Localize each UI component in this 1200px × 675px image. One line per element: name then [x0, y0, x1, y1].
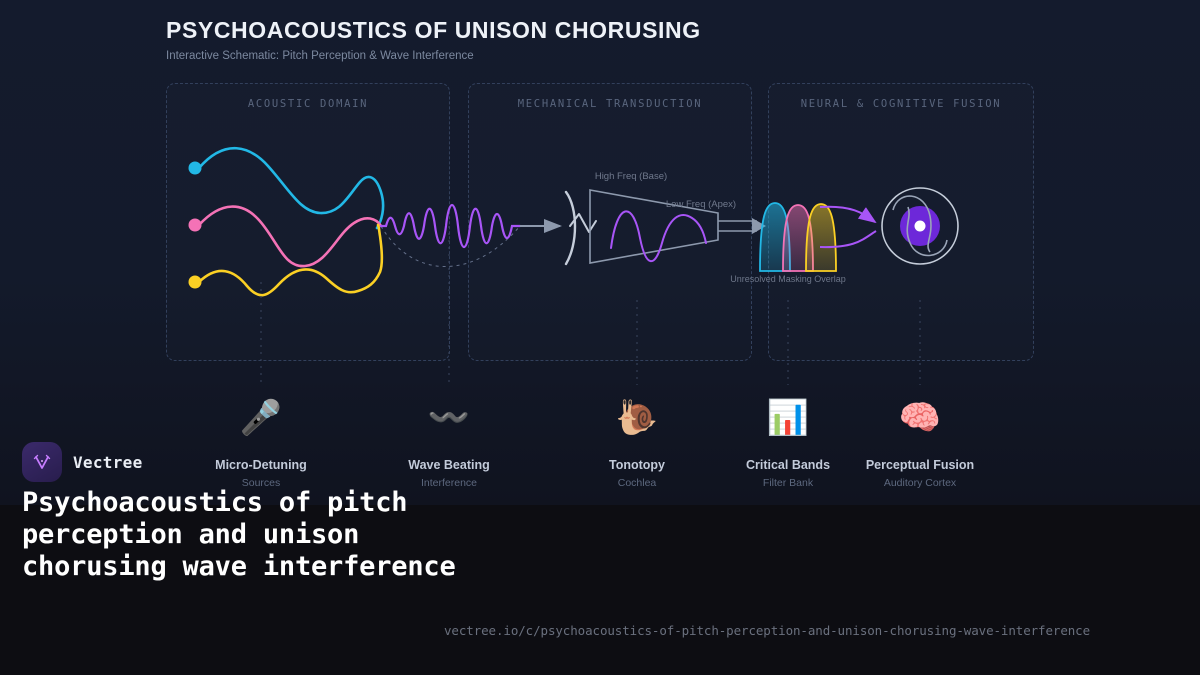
- source-dot-1: [189, 162, 202, 175]
- source-url: vectree.io/c/psychoacoustics-of-pitch-pe…: [444, 623, 1090, 638]
- source-dot-2: [189, 219, 202, 232]
- basilar-membrane-wave: [611, 211, 706, 261]
- feature-label: Critical Bands: [713, 458, 863, 472]
- label-high-freq: High Freq (Base): [595, 171, 667, 182]
- feature-sublabel: Auditory Cortex: [845, 477, 995, 489]
- feature-sublabel: Cochlea: [562, 477, 712, 489]
- feature-tonotopy[interactable]: 🐌 Tonotopy Cochlea: [562, 398, 712, 489]
- feature-micro-detuning[interactable]: 🎤 Micro-Detuning Sources: [186, 398, 336, 489]
- source-wave-1: [199, 148, 383, 228]
- brain-icon: 🧠: [845, 398, 995, 442]
- cochlea-group: High Freq (Base) Low Freq (Apex): [590, 171, 766, 263]
- source-wave-3: [199, 225, 382, 295]
- poster-canvas: PSYCHOACOUSTICS OF UNISON CHORUSING Inte…: [0, 0, 1200, 675]
- microphone-icon: 🎤: [186, 398, 336, 442]
- source-wave-group: [189, 148, 384, 295]
- feature-critical-bands[interactable]: 📊 Critical Bands Filter Bank: [713, 398, 863, 489]
- feature-sublabel: Filter Bank: [713, 477, 863, 489]
- feature-wave-beating[interactable]: 〰️ Wave Beating Interference: [374, 398, 524, 489]
- interference-waveform: [381, 205, 520, 247]
- cortex-group[interactable]: [882, 188, 958, 264]
- feature-perceptual-fusion[interactable]: 🧠 Perceptual Fusion Auditory Cortex: [845, 398, 995, 489]
- logo-glyph: [31, 451, 53, 473]
- wave-icon: 〰️: [374, 398, 524, 442]
- critical-band-group: Unresolved Masking Overlap: [730, 203, 846, 284]
- snail-icon: 🐌: [562, 398, 712, 442]
- brand[interactable]: Vectree: [22, 442, 143, 482]
- filter-band-3[interactable]: [806, 204, 836, 271]
- bar-chart-icon: 📊: [713, 398, 863, 442]
- cortex-center-dot: [915, 221, 926, 232]
- interference-zone: [381, 185, 560, 266]
- source-dot-3: [189, 276, 202, 289]
- feature-label: Perceptual Fusion: [845, 458, 995, 472]
- brand-name: Vectree: [73, 453, 143, 472]
- feature-label: Tonotopy: [562, 458, 712, 472]
- feature-label: Wave Beating: [374, 458, 524, 472]
- feature-label: Micro-Detuning: [186, 458, 336, 472]
- source-wave-2: [199, 207, 381, 266]
- label-masking-overlap: Unresolved Masking Overlap: [730, 274, 846, 284]
- headline: Psychoacoustics of pitch perception and …: [22, 487, 492, 583]
- label-low-freq: Low Freq (Apex): [666, 199, 736, 210]
- vectree-logo-icon: [22, 442, 62, 482]
- eardrum-icon: [566, 192, 575, 264]
- middle-ear-group: [566, 192, 596, 264]
